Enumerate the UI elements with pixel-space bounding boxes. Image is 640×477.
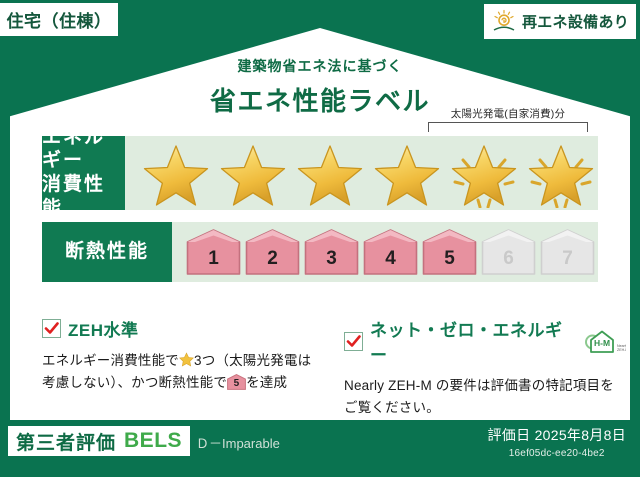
label-panel: 建築物省エネ法に基づく 省エネ性能ラベル エネルギー 消費性能 bbox=[10, 28, 630, 420]
sun-icon bbox=[491, 9, 517, 35]
star-filled bbox=[216, 138, 290, 208]
zeh-note: ZEH水準 エネルギー消費性能で 3つ（太陽光発電は考慮しない）、かつ断熱性能で… bbox=[42, 316, 324, 395]
evaluation-block: 評価日 2025年8月8日 16ef05dc-ee20-4be2 bbox=[487, 425, 626, 459]
zeh-m-logo-icon: H-M Nearly ZEH-M bbox=[582, 326, 626, 356]
insulation-grade-value: 1 bbox=[208, 248, 219, 270]
star-filled bbox=[139, 138, 213, 208]
insulation-grade-value: 3 bbox=[326, 248, 337, 270]
svg-text:ZEH-M: ZEH-M bbox=[617, 348, 626, 352]
house-type-chip: 住宅（住棟） bbox=[0, 3, 118, 36]
energy-performance-label: 住宅（住棟） 再エネ設備あり 建築物省エネ法に基づく bbox=[0, 0, 640, 477]
insulation-grade-value: 2 bbox=[267, 248, 278, 270]
star-filled bbox=[293, 138, 367, 208]
insulation-performance-label: 断熱性能 bbox=[42, 222, 172, 282]
star-rating bbox=[125, 138, 598, 208]
inline-grade-value: 5 bbox=[227, 379, 246, 389]
zeh-body-part1: エネルギー消費性能で bbox=[42, 353, 179, 368]
zeh-note-header: ZEH水準 bbox=[42, 316, 324, 341]
star-filled bbox=[370, 138, 444, 208]
net-zero-energy-note: ネット・ゼロ・エネルギー H-M Nearly ZEH-M Nearly ZEH… bbox=[344, 316, 626, 420]
energy-performance-body: 太陽光発電(自家消費)分 bbox=[125, 136, 598, 210]
bels-jp-label: 第三者評価 bbox=[16, 428, 116, 455]
star-solar bbox=[524, 138, 598, 208]
insulation-performance-row: 断熱性能 1 2 3 4 bbox=[42, 222, 598, 282]
insulation-grade-scale: 1 2 3 4 5 bbox=[172, 229, 595, 275]
energy-label-line1: エネルギー bbox=[42, 126, 125, 174]
star-solar bbox=[447, 138, 521, 208]
check-icon bbox=[344, 332, 363, 351]
svg-text:H-M: H-M bbox=[594, 338, 610, 348]
evaluation-date: 評価日 2025年8月8日 bbox=[487, 425, 626, 445]
insulation-grade-value: 7 bbox=[562, 248, 573, 270]
zeh-note-title: ZEH水準 bbox=[68, 316, 139, 341]
zeh-note-body: エネルギー消費性能で 3つ（太陽光発電は考慮しない）、かつ断熱性能で 5を達成 bbox=[42, 350, 324, 395]
insulation-grade-3: 3 bbox=[304, 229, 359, 275]
evaluation-date-label: 評価日 bbox=[487, 427, 530, 443]
nze-note-body: Nearly ZEH-M の要件は評価書の特記項目をご覧ください。 bbox=[344, 375, 626, 420]
insulation-grade-value: 5 bbox=[444, 248, 455, 270]
insulation-grade-7: 7 bbox=[540, 229, 595, 275]
insulation-grade-value: 4 bbox=[385, 248, 396, 270]
insulation-label-line1: 断熱性能 bbox=[65, 240, 149, 264]
nze-note-title: ネット・ゼロ・エネルギー bbox=[370, 316, 573, 366]
bels-badge: 第三者評価 BELS bbox=[8, 426, 190, 456]
nze-note-header: ネット・ゼロ・エネルギー H-M Nearly ZEH-M bbox=[344, 316, 626, 366]
insulation-grade-2: 2 bbox=[245, 229, 300, 275]
renewable-equipment-chip: 再エネ設備あり bbox=[484, 4, 636, 39]
inline-star-icon bbox=[179, 352, 194, 367]
solar-annotation-text: 太陽光発電(自家消費)分 bbox=[424, 106, 592, 121]
insulation-performance-body: 1 2 3 4 5 bbox=[172, 222, 598, 282]
house-type-label: 住宅（住棟） bbox=[7, 7, 112, 32]
bels-en-label: BELS bbox=[124, 429, 182, 453]
evaluation-date-value: 2025年8月8日 bbox=[535, 427, 626, 443]
energy-performance-label: エネルギー 消費性能 bbox=[42, 136, 125, 210]
insulation-grade-value: 6 bbox=[503, 248, 514, 270]
insulation-grade-5: 5 bbox=[422, 229, 477, 275]
zeh-body-part3: を達成 bbox=[246, 375, 287, 390]
model-name: Ｄ－Imparable bbox=[196, 433, 280, 452]
insulation-grade-4: 4 bbox=[363, 229, 418, 275]
solar-bracket bbox=[428, 122, 588, 132]
title-subtitle: 建築物省エネ法に基づく bbox=[22, 56, 618, 76]
inline-grade-badge: 5 bbox=[227, 374, 246, 390]
evaluation-id: 16ef05dc-ee20-4be2 bbox=[487, 448, 626, 459]
energy-label-line2: 消費性能 bbox=[42, 173, 125, 221]
insulation-grade-6: 6 bbox=[481, 229, 536, 275]
solar-annotation: 太陽光発電(自家消費)分 bbox=[424, 106, 592, 132]
footer: 第三者評価 BELS Ｄ－Imparable 評価日 2025年8月8日 16e… bbox=[0, 420, 640, 477]
check-icon bbox=[42, 319, 61, 338]
renewable-label: 再エネ設備あり bbox=[522, 11, 629, 32]
insulation-grade-1: 1 bbox=[186, 229, 241, 275]
energy-performance-row: エネルギー 消費性能 bbox=[42, 136, 598, 210]
